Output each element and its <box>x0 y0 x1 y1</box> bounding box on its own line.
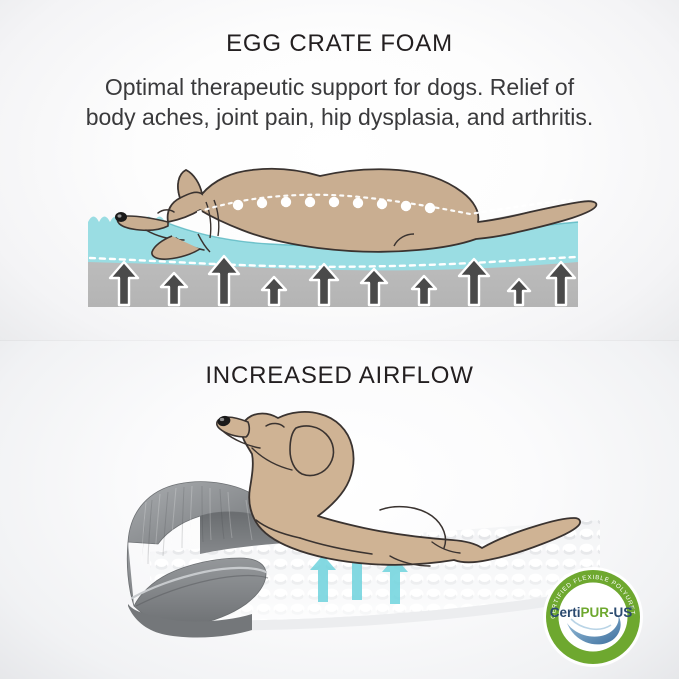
badge-wordmark: CertiPUR-US ® <box>550 605 633 620</box>
badge-trademark: ® <box>629 605 633 612</box>
subtitle-line-1: Optimal therapeutic support for dogs. Re… <box>0 72 679 102</box>
badge-brand-part2: PUR <box>581 605 610 620</box>
infographic-root: EGG CRATE FOAM Optimal therapeutic suppo… <box>0 0 679 679</box>
egg-crate-foam-title: EGG CRATE FOAM <box>0 30 679 58</box>
certipur-us-badge: CONTAINS CERTIFIED FLEXIBLE POLYURETHANE… <box>541 565 645 669</box>
subtitle-line-2: body aches, joint pain, hip dysplasia, a… <box>0 102 679 132</box>
badge-brand-part1: Certi <box>550 605 581 620</box>
egg-crate-foam-subtitle: Optimal therapeutic support for dogs. Re… <box>0 72 679 132</box>
increased-airflow-title: INCREASED AIRFLOW <box>0 362 679 390</box>
svg-text:CertiPUR-US: CertiPUR-US <box>550 605 633 620</box>
foam-cross-section-illustration <box>0 150 679 330</box>
